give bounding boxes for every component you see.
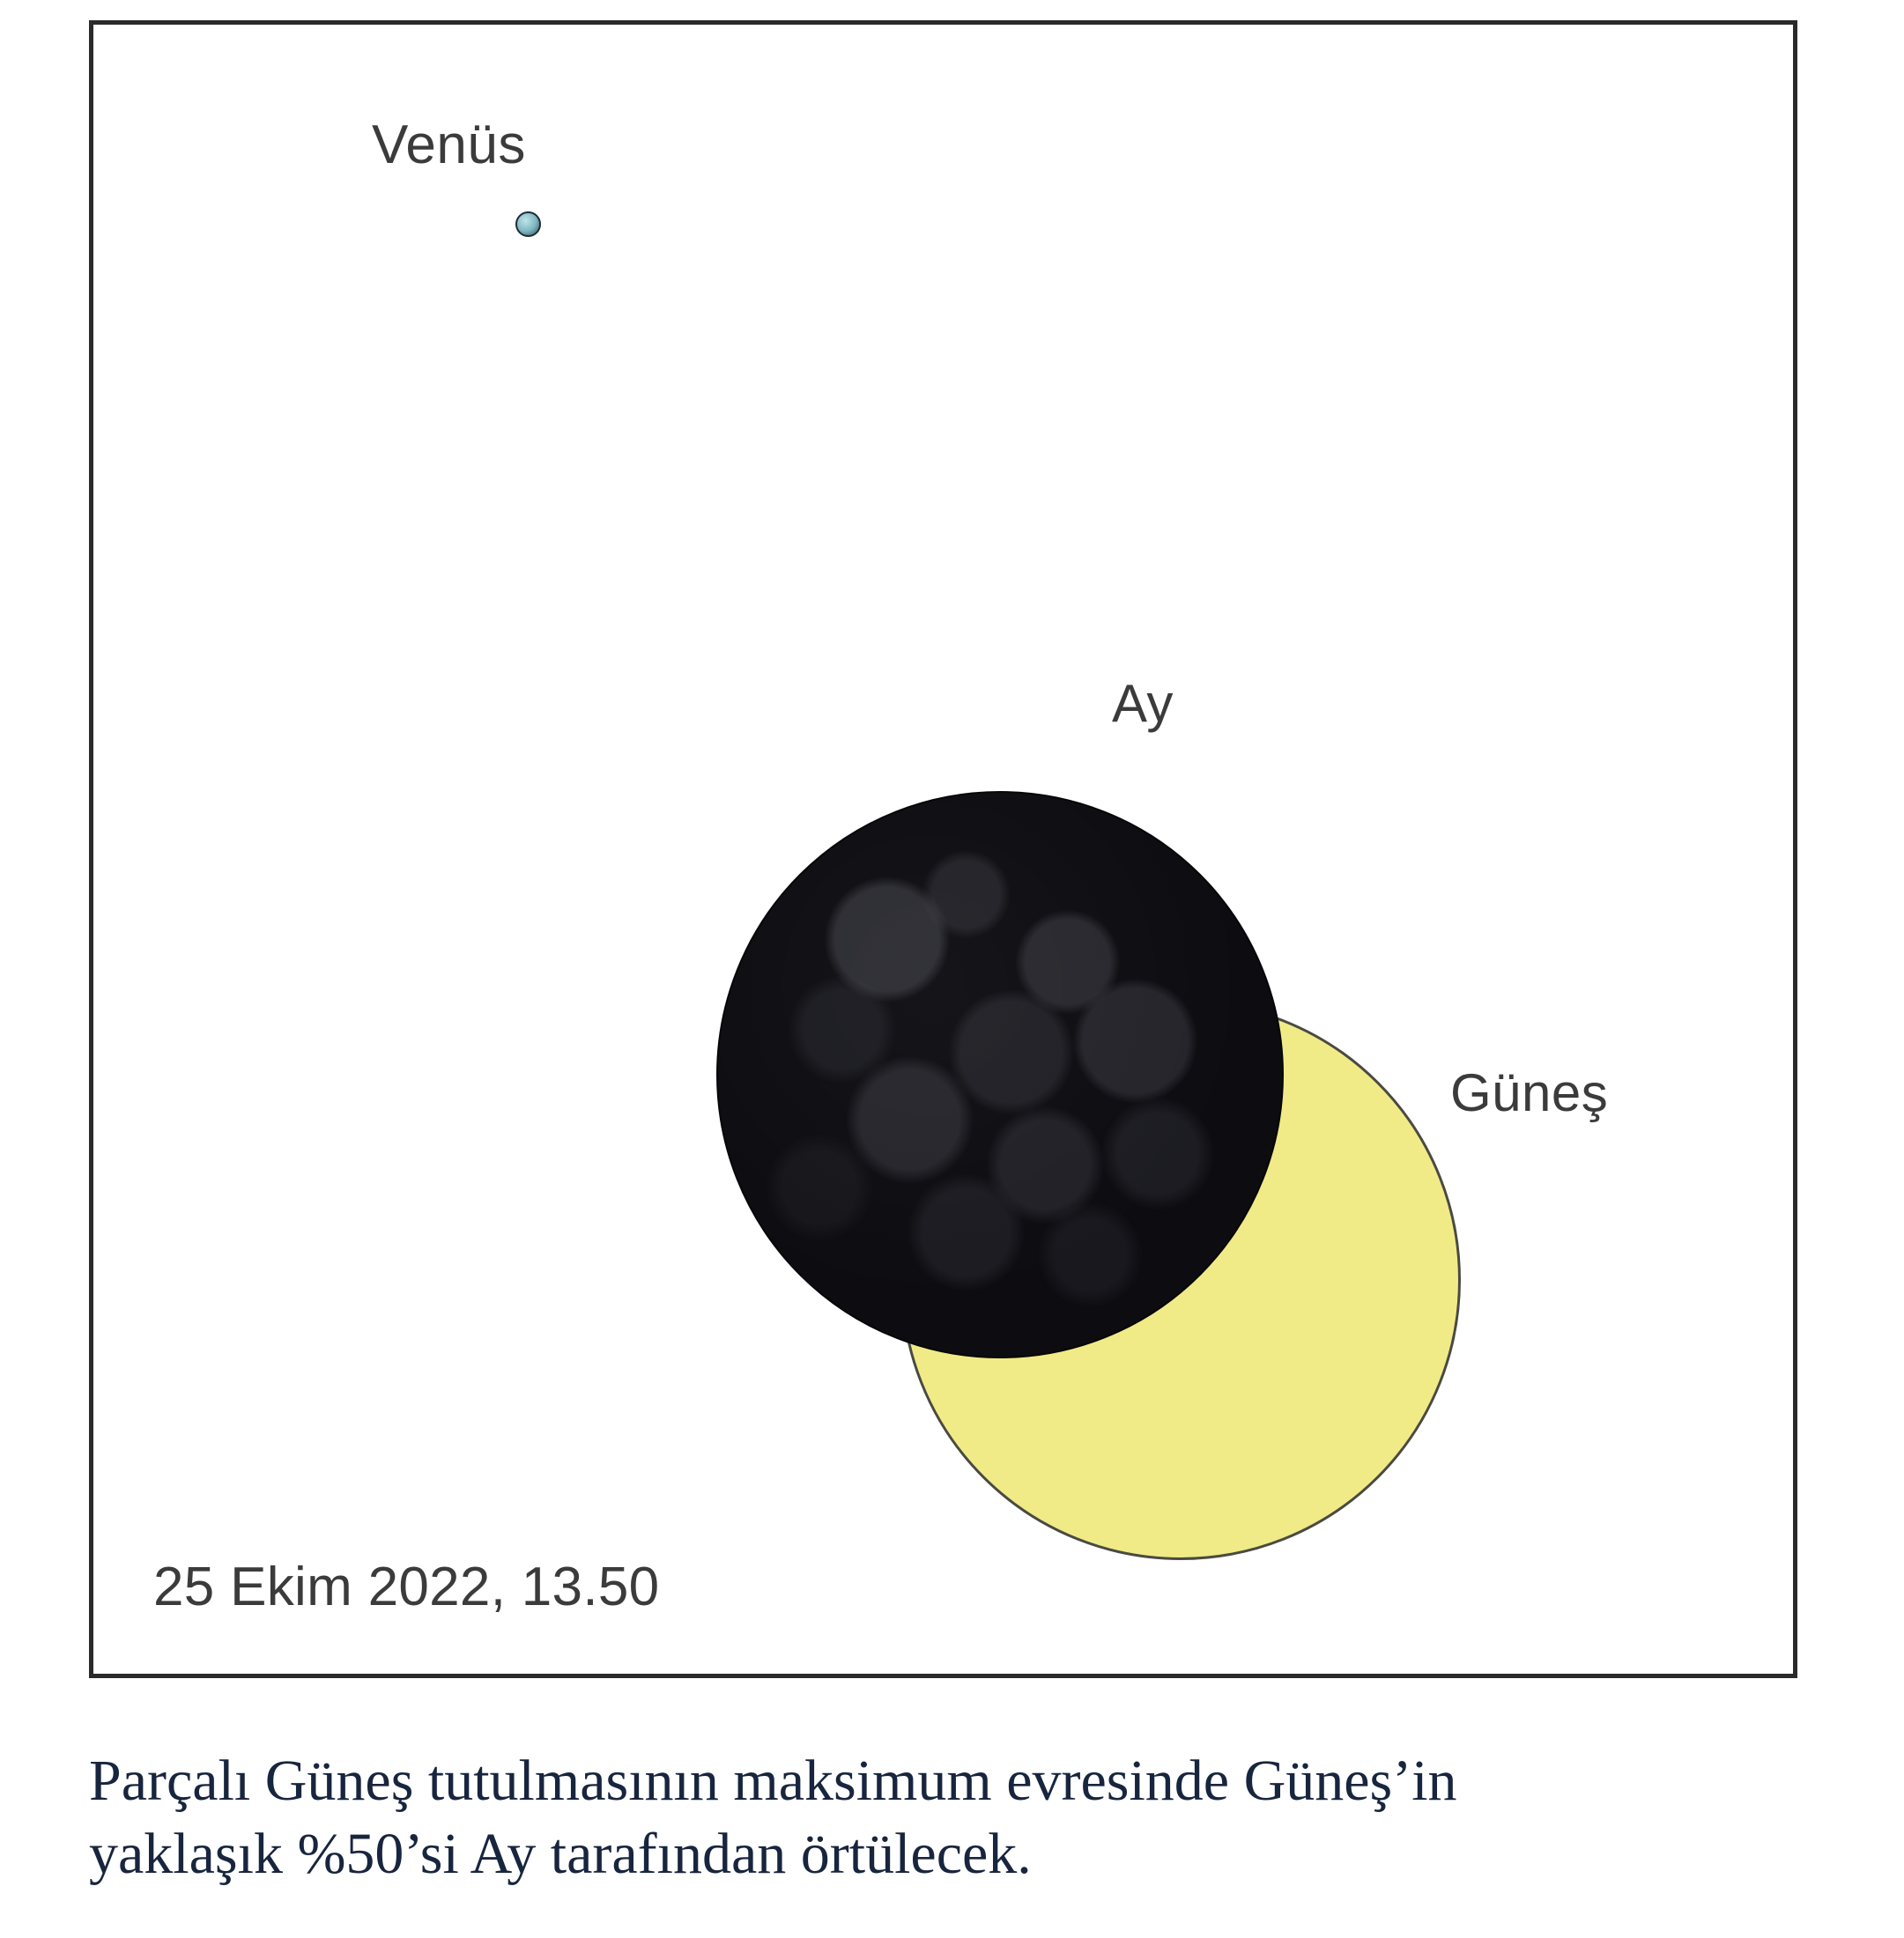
caption-line-1: Parçalı Güneş tutulmasının maksimum evre… (89, 1744, 1587, 1817)
figure-caption: Parçalı Güneş tutulmasının maksimum evre… (89, 1744, 1587, 1890)
sky-canvas: Venüs Ay Güneş 25 Ekim 2022, 13.50 (93, 25, 1793, 1674)
venus-label: Venüs (372, 114, 526, 176)
venus-dot-icon (515, 211, 541, 237)
caption-line-2: yaklaşık %50’si Ay tarafından örtülecek. (89, 1817, 1587, 1890)
timestamp-label: 25 Ekim 2022, 13.50 (153, 1556, 659, 1618)
moon-circle (716, 791, 1284, 1358)
eclipse-figure-frame: Venüs Ay Güneş 25 Ekim 2022, 13.50 (89, 20, 1797, 1678)
moon-disk (716, 791, 1284, 1358)
venus-circle (515, 211, 541, 237)
page-root: Venüs Ay Güneş 25 Ekim 2022, 13.50 Parça… (0, 0, 1904, 1938)
sun-label: Güneş (1450, 1062, 1608, 1123)
moon-label: Ay (1112, 673, 1174, 734)
